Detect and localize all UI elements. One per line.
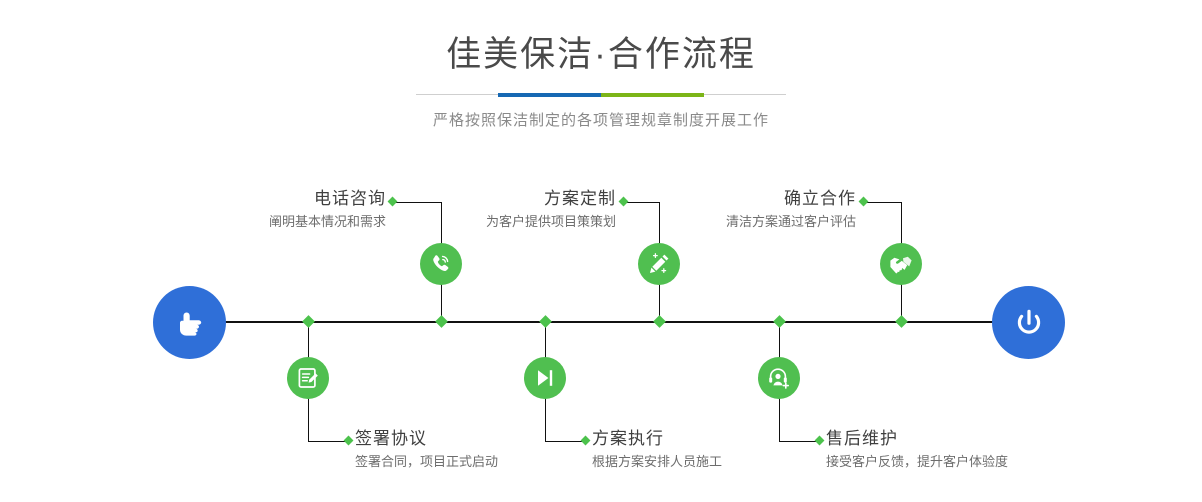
- title-divider: [416, 90, 786, 100]
- step-node-3[interactable]: [638, 243, 680, 285]
- end-node-power[interactable]: [992, 286, 1065, 359]
- page-subtitle: 严格按照保洁制定的各项管理规章制度开展工作: [0, 110, 1202, 132]
- step-node-6[interactable]: [758, 357, 800, 399]
- pencil-icon: [646, 251, 672, 277]
- phone-call-icon: [428, 251, 454, 277]
- step-title-6: 售后维护: [826, 428, 1008, 450]
- axis-marker-step-1: [435, 315, 448, 328]
- step-label-1: 电话咨询 阐明基本情况和需求: [150, 188, 386, 232]
- connector-hline-step-6: [779, 441, 819, 442]
- document-edit-icon: [295, 365, 321, 391]
- step-desc-3: 为客户提供项目策策划: [380, 212, 616, 232]
- axis-marker-step-2: [302, 315, 315, 328]
- step-desc-6: 接受客户反馈，提升客户体验度: [826, 452, 1008, 472]
- step-label-6: 售后维护 接受客户反馈，提升客户体验度: [826, 428, 1008, 472]
- step-desc-2: 签署合同，项目正式启动: [355, 452, 498, 472]
- divider-segment-blue: [498, 93, 601, 97]
- header: 佳美保洁·合作流程 严格按照保洁制定的各项管理规章制度开展工作: [0, 32, 1202, 132]
- step-title-2: 签署协议: [355, 428, 498, 450]
- label-bullet-step-2: [344, 436, 354, 446]
- axis-marker-step-6: [773, 315, 786, 328]
- step-label-3: 方案定制 为客户提供项目策策划: [380, 188, 616, 232]
- pointing-hand-icon: [170, 303, 210, 343]
- step-label-5: 确立合作 清洁方案通过客户评估: [620, 188, 856, 232]
- step-label-2: 签署协议 签署合同，项目正式启动: [355, 428, 498, 472]
- play-execute-icon: [532, 365, 558, 391]
- label-bullet-step-5: [859, 197, 869, 207]
- step-title-1: 电话咨询: [150, 188, 386, 210]
- axis-marker-step-4: [539, 315, 552, 328]
- page-title: 佳美保洁·合作流程: [0, 32, 1202, 78]
- step-desc-1: 阐明基本情况和需求: [150, 212, 386, 232]
- label-bullet-step-4: [581, 436, 591, 446]
- step-title-5: 确立合作: [620, 188, 856, 210]
- customer-service-add-icon: [766, 365, 792, 391]
- step-node-5[interactable]: [880, 243, 922, 285]
- axis-marker-step-5: [895, 315, 908, 328]
- connector-hline-step-4: [545, 441, 585, 442]
- label-bullet-step-6: [815, 436, 825, 446]
- step-node-4[interactable]: [524, 357, 566, 399]
- flow-diagram-canvas: 佳美保洁·合作流程 严格按照保洁制定的各项管理规章制度开展工作: [0, 0, 1202, 502]
- power-icon: [1009, 303, 1049, 343]
- divider-segment-green: [601, 93, 704, 97]
- step-title-4: 方案执行: [592, 428, 722, 450]
- connector-hline-step-5: [866, 202, 901, 203]
- connector-hline-step-2: [308, 441, 348, 442]
- step-label-4: 方案执行 根据方案安排人员施工: [592, 428, 722, 472]
- step-node-1[interactable]: [420, 243, 462, 285]
- handshake-icon: [888, 251, 914, 277]
- axis-marker-step-3: [653, 315, 666, 328]
- step-desc-4: 根据方案安排人员施工: [592, 452, 722, 472]
- step-node-2[interactable]: [287, 357, 329, 399]
- start-node-pointing-hand[interactable]: [153, 286, 226, 359]
- step-title-3: 方案定制: [380, 188, 616, 210]
- step-desc-5: 清洁方案通过客户评估: [620, 212, 856, 232]
